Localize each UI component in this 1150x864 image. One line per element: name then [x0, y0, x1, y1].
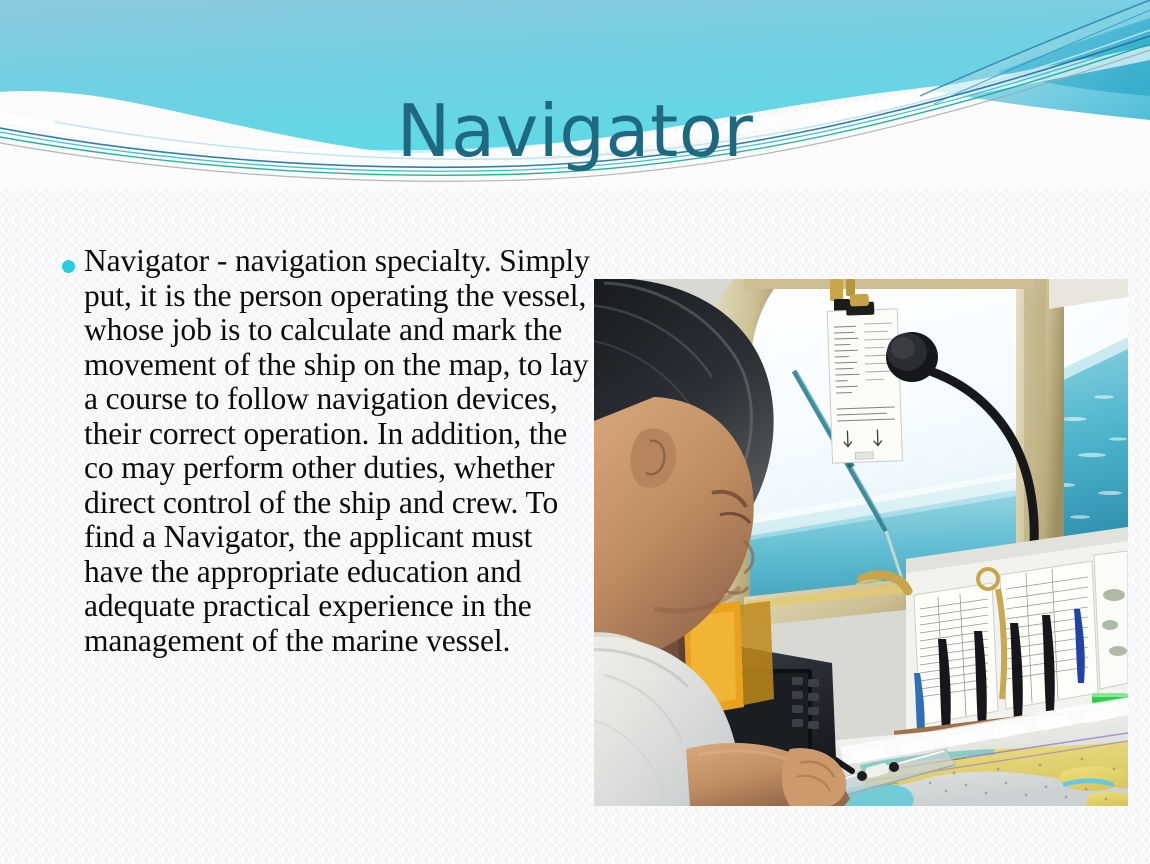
page-title: Navigator	[0, 94, 1150, 170]
bullet-list: Navigator - navigation specialty. Simply…	[62, 244, 590, 658]
bullet-dot-icon	[62, 260, 75, 273]
presentation-slide: Navigator Navigator - navigation special…	[0, 0, 1150, 864]
bullet-item-text: Navigator - navigation specialty. Simply…	[84, 244, 590, 658]
navigator-on-bridge-photo	[594, 279, 1128, 806]
